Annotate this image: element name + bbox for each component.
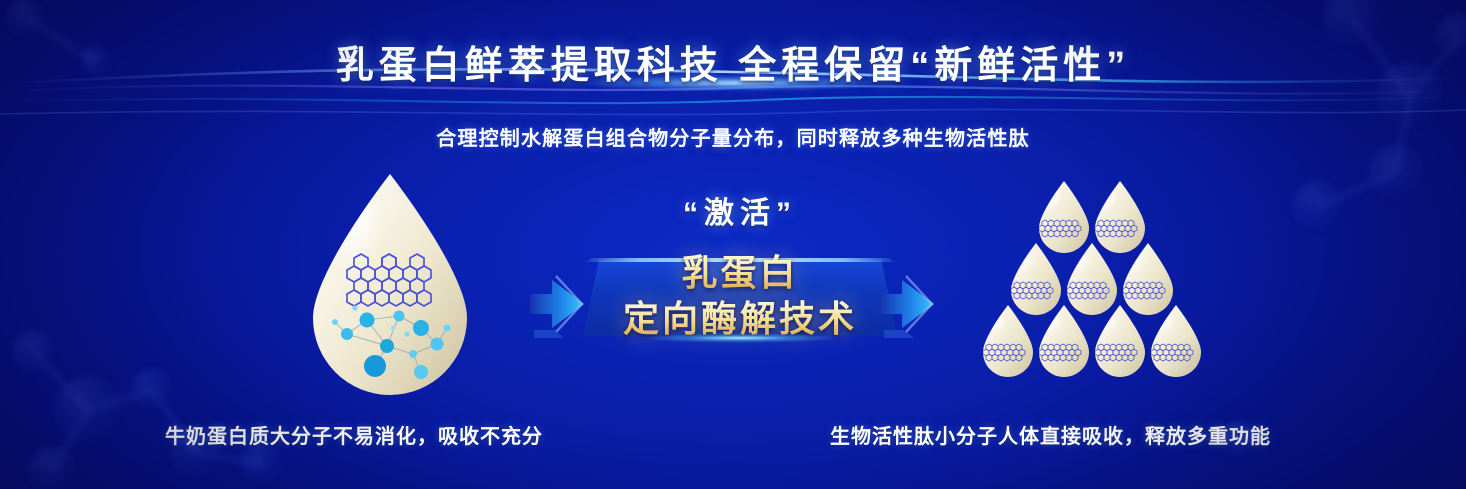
- panel-bottom-glow: [615, 332, 865, 344]
- caption-left: 牛奶蛋白质大分子不易消化，吸收不充分: [165, 420, 543, 449]
- page-subtitle: 合理控制水解蛋白组合物分子量分布，同时释放多种生物活性肽: [0, 122, 1466, 151]
- page-title: 乳蛋白鲜萃提取科技 全程保留“新鲜活性”: [0, 34, 1466, 89]
- peptide-droplet-icon: [1089, 302, 1151, 378]
- chevron-right-arrow-icon: [878, 268, 940, 340]
- banner-root: 乳蛋白鲜萃提取科技 全程保留“新鲜活性” 合理控制水解蛋白组合物分子量分布，同时…: [0, 0, 1466, 489]
- peptide-droplet-icon: [977, 302, 1039, 378]
- peptide-droplet-icon: [1145, 302, 1207, 378]
- activate-label: “激活”: [555, 188, 925, 232]
- peptide-droplet-cluster: [955, 178, 1215, 398]
- caption-right: 生物活性肽小分子人体直接吸收，释放多重功能: [830, 420, 1271, 449]
- gold-title-line-1: 乳蛋白: [555, 244, 925, 296]
- peptide-droplet-icon: [1033, 302, 1095, 378]
- center-highlight-panel: “激活” 乳蛋白 定向酶解技术: [555, 186, 925, 346]
- milk-droplet-icon: [295, 168, 485, 400]
